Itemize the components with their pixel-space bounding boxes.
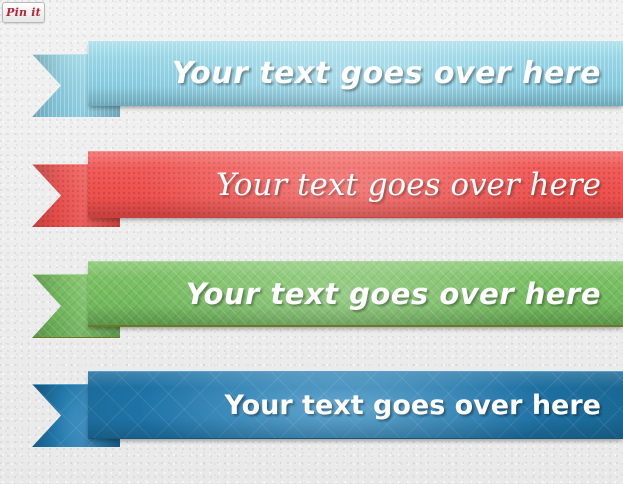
pin-it-button[interactable]: Pin it <box>2 2 45 23</box>
ribbon-bar-1[interactable]: Your text goes over here <box>88 41 623 106</box>
ribbon-bar-3[interactable]: Your text goes over here <box>88 261 623 327</box>
ribbon-text-4: Your text goes over here <box>88 390 623 421</box>
ribbon-text-3: Your text goes over here <box>88 277 623 311</box>
ribbon-text-2: Your text goes over here <box>88 167 623 203</box>
ribbon-bar-4[interactable]: Your text goes over here <box>88 371 623 439</box>
ribbon-text-1: Your text goes over here <box>88 56 623 91</box>
pin-it-label: Pin it <box>6 7 41 18</box>
ribbon-bar-2[interactable]: Your text goes over here <box>88 151 623 218</box>
